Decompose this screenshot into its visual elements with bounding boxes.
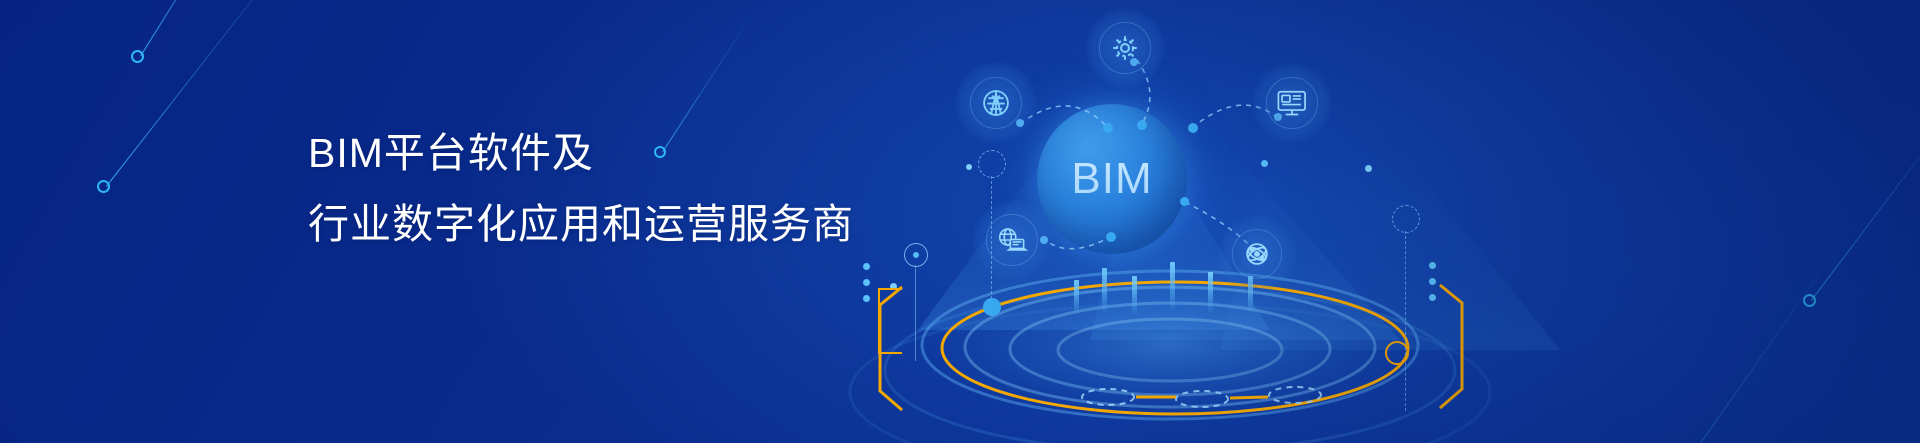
bracket-shapes [840, 0, 1920, 443]
yellow-ring [1385, 341, 1409, 365]
headline-line-1: BIM平台软件及 [308, 118, 854, 189]
power-tower-icon [979, 86, 1013, 120]
hero-banner: BIM平台软件及 行业数字化应用和运营服务商 [0, 0, 1920, 443]
misc-dot-1 [966, 164, 972, 170]
monitor-report-icon [1275, 87, 1309, 119]
network-node-icon [1241, 238, 1273, 270]
gear-icon [1110, 33, 1140, 63]
globe-laptop-icon [995, 225, 1029, 255]
page-title: BIM平台软件及 行业数字化应用和运营服务商 [308, 118, 854, 260]
bim-illustration: BIM [840, 0, 1920, 443]
headline-line-2: 行业数字化应用和运营服务商 [308, 189, 854, 260]
misc-dot-2 [1365, 165, 1372, 172]
